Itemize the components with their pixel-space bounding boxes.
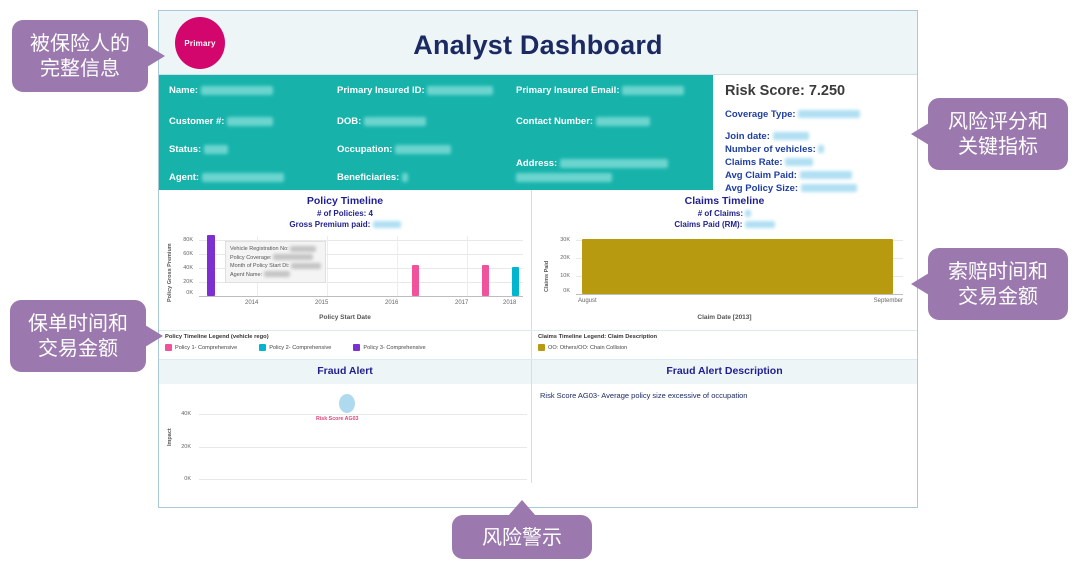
callout-tail-icon bbox=[911, 273, 929, 295]
dashboard-header: Primary Analyst Dashboard bbox=[159, 11, 917, 75]
fraud-ytick-40k: 40K bbox=[169, 411, 191, 417]
legend-item[interactable]: Policy 1- Comprehensive bbox=[165, 344, 237, 351]
claims-paid-value bbox=[745, 221, 775, 228]
claims-x-axis-label: Claim Date [2013] bbox=[532, 314, 917, 321]
field-customer: Customer #: bbox=[169, 116, 273, 127]
callout-tail-icon bbox=[145, 325, 163, 347]
policy-2-swatch-icon bbox=[259, 344, 266, 351]
vehicles-label: Number of vehicles: bbox=[725, 144, 816, 155]
field-agent-label: Agent: bbox=[169, 172, 199, 183]
field-beneficiaries-label: Beneficiaries: bbox=[337, 172, 399, 183]
tooltip-vehicle-rego-value bbox=[290, 246, 316, 252]
callout-risk-metrics: 风险评分和 关键指标 bbox=[928, 98, 1068, 170]
field-address-value-2 bbox=[516, 173, 612, 182]
policy-legend: Policy Timeline Legend (vehicle rego) Po… bbox=[159, 331, 531, 359]
legend-item-label: Policy 3- Comprehensive bbox=[363, 345, 425, 351]
avg-claim-paid-value bbox=[800, 171, 852, 179]
tooltip-start-month-value bbox=[291, 263, 321, 269]
field-status-value bbox=[204, 145, 228, 154]
fraud-alert-bubble-label: Risk Score AG03 bbox=[316, 416, 359, 422]
field-dob-value bbox=[364, 117, 426, 126]
fraud-gridline-40k bbox=[199, 414, 527, 415]
coverage-type-label: Coverage Type: bbox=[725, 109, 796, 120]
join-date-value bbox=[773, 132, 809, 140]
fraud-body-row: Impact 40K 20K 0K Risk Score AG03 Risk S… bbox=[159, 384, 917, 483]
fraud-header-row: Fraud Alert Fraud Alert Description bbox=[159, 360, 917, 384]
claims-rate-label: Claims Rate: bbox=[725, 157, 783, 168]
charts-row: Policy Timeline # of Policies: 4 Gross P… bbox=[159, 190, 917, 330]
field-beneficiaries: Beneficiaries: bbox=[337, 172, 408, 183]
policy-xtick-2015: 2015 bbox=[315, 300, 328, 306]
claims-bar[interactable] bbox=[582, 239, 893, 294]
claims-timeline-chart[interactable]: Claims Timeline # of Claims: Claims Paid… bbox=[531, 190, 917, 330]
field-occupation: Occupation: bbox=[337, 144, 451, 155]
field-beneficiaries-value bbox=[402, 173, 408, 182]
policy-ytick-0k: 0K bbox=[171, 290, 193, 296]
gross-premium-value bbox=[373, 221, 401, 228]
claims-swatch-icon bbox=[538, 344, 545, 351]
policy-bar-3[interactable] bbox=[207, 235, 215, 296]
claims-plot-area: Claims Paid 30K 20K 10K 0K August Septem… bbox=[532, 234, 917, 330]
callout-insured-info: 被保险人的 完整信息 bbox=[12, 20, 148, 92]
claims-xtick-september: September bbox=[874, 298, 903, 304]
legend-item[interactable]: OO: Others/OO: Chain Collision bbox=[538, 344, 627, 351]
field-insured-id-label: Primary Insured ID: bbox=[337, 85, 425, 96]
claims-ytick-10k: 10K bbox=[548, 273, 570, 279]
policy-vgrid-2016 bbox=[397, 236, 398, 296]
avg-claim-paid-row: Avg Claim Paid: bbox=[725, 169, 907, 182]
field-occupation-label: Occupation: bbox=[337, 144, 392, 155]
claims-legend-header: Claims Timeline Legend: Claim Descriptio… bbox=[538, 334, 911, 340]
policy-3-swatch-icon bbox=[353, 344, 360, 351]
policy-vgrid-2015 bbox=[327, 236, 328, 296]
policy-vgrid-2017 bbox=[467, 236, 468, 296]
field-name-value bbox=[201, 86, 273, 95]
policy-ytick-40k: 40K bbox=[171, 265, 193, 271]
policy-xtick-2018: 2018 bbox=[503, 300, 516, 306]
coverage-type-row: Coverage Type: bbox=[725, 108, 907, 121]
avg-claim-paid-label: Avg Claim Paid: bbox=[725, 170, 797, 181]
field-occupation-value bbox=[395, 145, 451, 154]
insured-fields: Name: Customer #: Status: Agent: Pr bbox=[159, 75, 711, 190]
analyst-dashboard: Primary Analyst Dashboard Name: Customer… bbox=[158, 10, 918, 508]
tooltip-line-coverage: Policy Coverage: bbox=[230, 254, 321, 263]
policy-legend-header: Policy Timeline Legend (vehicle rego) bbox=[165, 334, 525, 340]
legend-row: Policy Timeline Legend (vehicle rego) Po… bbox=[159, 330, 917, 360]
vehicles-row: Number of vehicles: bbox=[725, 143, 907, 156]
field-customer-label: Customer #: bbox=[169, 116, 224, 127]
fraud-ytick-20k: 20K bbox=[169, 444, 191, 450]
policy-x-axis-label: Policy Start Date bbox=[159, 314, 531, 321]
callout-tail-icon bbox=[911, 123, 929, 145]
legend-item[interactable]: Policy 3- Comprehensive bbox=[353, 344, 425, 351]
policy-x-axis bbox=[199, 296, 523, 297]
field-address: Address: bbox=[516, 158, 668, 169]
policy-bar-1a[interactable] bbox=[412, 265, 419, 296]
claims-ytick-20k: 20K bbox=[548, 255, 570, 261]
field-address-label: Address: bbox=[516, 158, 557, 169]
fraud-gridline-20k bbox=[199, 447, 527, 448]
policy-xtick-2014: 2014 bbox=[245, 300, 258, 306]
field-email-label: Primary Insured Email: bbox=[516, 85, 619, 96]
policy-chart-gross-premium: Gross Premium paid: bbox=[159, 219, 531, 230]
callout-policy-time-text: 保单时间和 交易金额 bbox=[22, 307, 134, 365]
policy-bar-tooltip: Vehicle Registration No: Policy Coverage… bbox=[225, 241, 326, 283]
fraud-alert-desc-title: Fraud Alert Description bbox=[531, 360, 917, 384]
field-insured-id-value bbox=[427, 86, 493, 95]
claims-rate-value bbox=[785, 158, 813, 166]
legend-item-label: Policy 2- Comprehensive bbox=[269, 345, 331, 351]
callout-policy-time: 保单时间和 交易金额 bbox=[10, 300, 146, 372]
fraud-alert-chart[interactable]: Impact 40K 20K 0K Risk Score AG03 bbox=[159, 384, 531, 483]
callout-claim-time: 索赔时间和 交易金额 bbox=[928, 248, 1068, 320]
claims-chart-count: # of Claims: bbox=[532, 208, 917, 219]
claims-legend: Claims Timeline Legend: Claim Descriptio… bbox=[531, 331, 917, 359]
risk-score-panel: Risk Score: 7.250 Coverage Type: Join da… bbox=[711, 75, 917, 190]
legend-item-label: OO: Others/OO: Chain Collision bbox=[548, 345, 627, 351]
claims-chart-paid: Claims Paid (RM): bbox=[532, 219, 917, 230]
claims-ytick-30k: 30K bbox=[548, 237, 570, 243]
field-contact: Contact Number: bbox=[516, 116, 650, 127]
field-status-label: Status: bbox=[169, 144, 201, 155]
field-email: Primary Insured Email: bbox=[516, 85, 684, 96]
tooltip-agent-value bbox=[264, 271, 290, 277]
callout-risk-metrics-text: 风险评分和 关键指标 bbox=[942, 105, 1054, 163]
field-address-value bbox=[560, 159, 668, 168]
claims-ytick-0k: 0K bbox=[548, 288, 570, 294]
field-customer-value bbox=[227, 117, 273, 126]
field-contact-label: Contact Number: bbox=[516, 116, 593, 127]
tooltip-line-agent: Agent Name: bbox=[230, 271, 321, 280]
legend-item-label: Policy 1- Comprehensive bbox=[175, 345, 237, 351]
field-dob: DOB: bbox=[337, 116, 426, 127]
field-name: Name: bbox=[169, 85, 273, 96]
claims-count-value bbox=[745, 210, 751, 217]
claims-chart-title: Claims Timeline bbox=[532, 190, 917, 208]
claims-xtick-august: August bbox=[578, 298, 597, 304]
tooltip-line-vehicle-rego: Vehicle Registration No: bbox=[230, 245, 321, 254]
claims-rate-row: Claims Rate: bbox=[725, 156, 907, 169]
policy-xtick-2016: 2016 bbox=[385, 300, 398, 306]
field-contact-value bbox=[596, 117, 650, 126]
join-date-row: Join date: bbox=[725, 130, 907, 143]
policy-bar-1b[interactable] bbox=[482, 265, 489, 296]
page-title: Analyst Dashboard bbox=[159, 30, 917, 61]
insured-info-panel: Name: Customer #: Status: Agent: Pr bbox=[159, 75, 917, 190]
policy-ytick-60k: 60K bbox=[171, 251, 193, 257]
callout-tail-icon bbox=[147, 45, 165, 67]
field-insured-id: Primary Insured ID: bbox=[337, 85, 493, 96]
coverage-type-value bbox=[798, 110, 860, 118]
policy-1-swatch-icon bbox=[165, 344, 172, 351]
claims-x-axis bbox=[576, 294, 903, 295]
field-agent: Agent: bbox=[169, 172, 284, 183]
vehicles-value bbox=[818, 145, 824, 153]
policy-timeline-chart[interactable]: Policy Timeline # of Policies: 4 Gross P… bbox=[159, 190, 531, 330]
policy-ytick-20k: 20K bbox=[171, 279, 193, 285]
fraud-alert-description-panel: Risk Score AG03- Average policy size exc… bbox=[531, 384, 917, 483]
field-status: Status: bbox=[169, 144, 228, 155]
policy-legend-items: Policy 1- Comprehensive Policy 2- Compre… bbox=[165, 344, 525, 351]
field-address-line2 bbox=[516, 172, 612, 183]
fraud-alert-title: Fraud Alert bbox=[159, 360, 531, 384]
fraud-gridline-0k bbox=[199, 479, 527, 480]
callout-insured-info-text: 被保险人的 完整信息 bbox=[24, 27, 136, 85]
risk-score-value: Risk Score: 7.250 bbox=[725, 83, 907, 99]
callout-risk-warning: 风险警示 bbox=[452, 515, 592, 559]
fraud-alert-description-text: Risk Score AG03- Average policy size exc… bbox=[540, 390, 909, 401]
join-date-label: Join date: bbox=[725, 131, 770, 142]
policy-chart-title: Policy Timeline bbox=[159, 190, 531, 208]
screenshot-root: Primary Analyst Dashboard Name: Customer… bbox=[0, 0, 1080, 576]
policy-plot-area: Policy Gross Premium 80K 60K 40K 20K 0K bbox=[159, 234, 531, 330]
fraud-alert-bubble[interactable] bbox=[339, 394, 355, 413]
field-email-value bbox=[622, 86, 684, 95]
callout-claim-time-text: 索赔时间和 交易金额 bbox=[942, 255, 1054, 313]
field-agent-value bbox=[202, 173, 284, 182]
policy-bar-2[interactable] bbox=[512, 267, 519, 296]
tooltip-line-start-month: Month of Policy Start Dt: bbox=[230, 262, 321, 271]
policy-ytick-80k: 80K bbox=[171, 237, 193, 243]
policy-xtick-2017: 2017 bbox=[455, 300, 468, 306]
tooltip-coverage-value bbox=[273, 254, 313, 260]
callout-risk-warning-text: 风险警示 bbox=[476, 521, 568, 554]
callout-tail-icon bbox=[508, 500, 536, 516]
field-dob-label: DOB: bbox=[337, 116, 361, 127]
field-name-label: Name: bbox=[169, 85, 198, 96]
claims-legend-items: OO: Others/OO: Chain Collision bbox=[538, 344, 911, 351]
policy-chart-policies-count: # of Policies: 4 bbox=[159, 208, 531, 219]
fraud-ytick-0k: 0K bbox=[169, 476, 191, 482]
legend-item[interactable]: Policy 2- Comprehensive bbox=[259, 344, 331, 351]
